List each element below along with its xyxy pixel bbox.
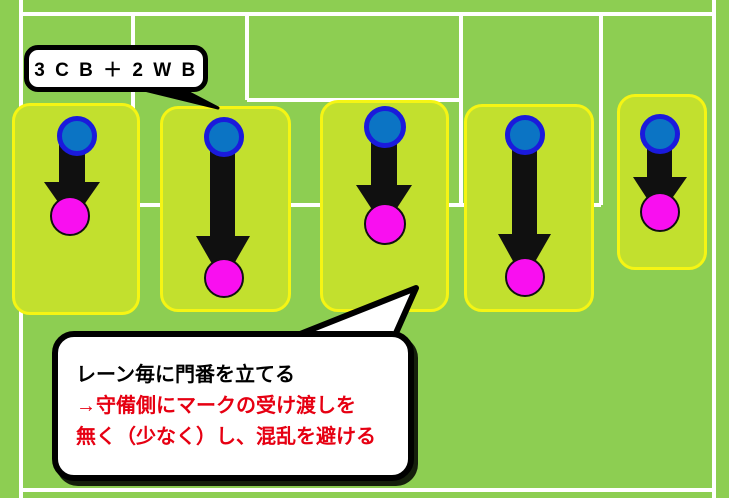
callout-bottom-line-3: 無く（少なく）し、混乱を避ける xyxy=(76,422,408,453)
attacker-token-2[interactable] xyxy=(204,117,244,157)
defender-token-5[interactable] xyxy=(640,192,680,232)
attacker-token-4[interactable] xyxy=(505,115,545,155)
callout-bottom-line-2: →守備側にマークの受け渡しを xyxy=(76,391,408,422)
tactics-diagram: 3 C B ＋ 2 W B レーン毎に門番を立てる →守備側にマークの受け渡しを… xyxy=(0,0,729,498)
defender-token-3[interactable] xyxy=(364,203,406,245)
attacker-token-1[interactable] xyxy=(57,116,97,156)
callout-3cb-2wb[interactable]: 3 C B ＋ 2 W B xyxy=(24,45,208,92)
defender-token-2[interactable] xyxy=(204,258,244,298)
callout-top-text: 3 C B ＋ 2 W B xyxy=(34,55,197,82)
defender-token-4[interactable] xyxy=(505,257,545,297)
attacker-token-3[interactable] xyxy=(364,106,406,148)
callout-bottom-line-1: レーン毎に門番を立てる xyxy=(76,360,408,391)
callout-explanation[interactable]: レーン毎に門番を立てる →守備側にマークの受け渡しを 無く（少なく）し、混乱を避… xyxy=(52,331,414,481)
defender-token-1[interactable] xyxy=(50,196,90,236)
attacker-token-5[interactable] xyxy=(640,114,680,154)
